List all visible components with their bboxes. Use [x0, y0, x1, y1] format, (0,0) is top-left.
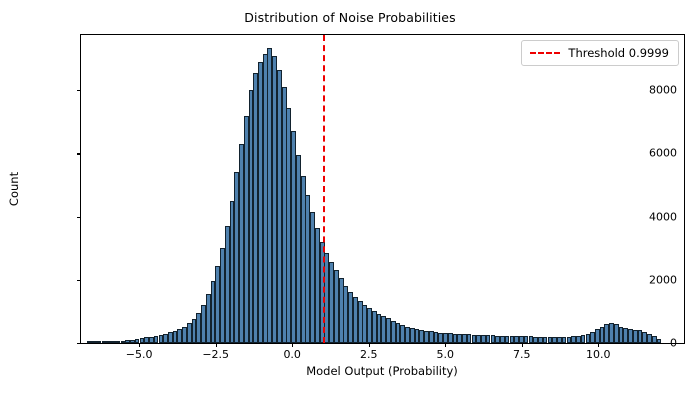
y-axis-tick-label: 4000	[649, 210, 677, 223]
page-title: Distribution of Noise Probabilities	[0, 10, 700, 25]
x-axis-tick-label: 5.0	[436, 348, 454, 361]
y-axis-tick-label: 8000	[649, 84, 677, 97]
y-axis-tick-label: 0	[670, 337, 677, 350]
y-axis-label: Count	[7, 172, 21, 206]
x-axis-label: Model Output (Probability)	[306, 364, 458, 378]
x-axis-tick	[522, 343, 523, 347]
y-axis-tick	[77, 280, 81, 281]
x-axis-tick-label: −5.0	[126, 348, 153, 361]
y-axis-tick	[77, 217, 81, 218]
bars-container	[81, 35, 684, 343]
histogram-figure: Distribution of Noise Probabilities Coun…	[0, 0, 700, 400]
legend: Threshold 0.9999	[521, 40, 679, 66]
x-axis-tick-label: 2.5	[360, 348, 378, 361]
x-axis-tick-label: 10.0	[586, 348, 611, 361]
x-axis-tick-label: 0.0	[283, 348, 301, 361]
threshold-vline	[323, 35, 325, 343]
y-axis-tick-label: 2000	[649, 273, 677, 286]
plot-area: Threshold 0.9999 02000400060008000−5.0−2…	[80, 34, 685, 344]
x-axis-tick-label: 7.5	[513, 348, 531, 361]
y-axis-tick	[77, 90, 81, 91]
x-axis-tick	[369, 343, 370, 347]
x-axis-tick	[292, 343, 293, 347]
histogram-bar	[657, 339, 662, 343]
y-axis-tick	[77, 343, 81, 344]
x-axis-tick	[139, 343, 140, 347]
y-axis-tick-label: 6000	[649, 147, 677, 160]
legend-label: Threshold 0.9999	[568, 46, 669, 60]
x-axis-tick	[598, 343, 599, 347]
threshold-line-swatch-icon	[530, 52, 560, 54]
x-axis-tick	[445, 343, 446, 347]
y-axis-tick	[77, 153, 81, 154]
x-axis-tick-label: −2.5	[202, 348, 229, 361]
x-axis-tick	[216, 343, 217, 347]
